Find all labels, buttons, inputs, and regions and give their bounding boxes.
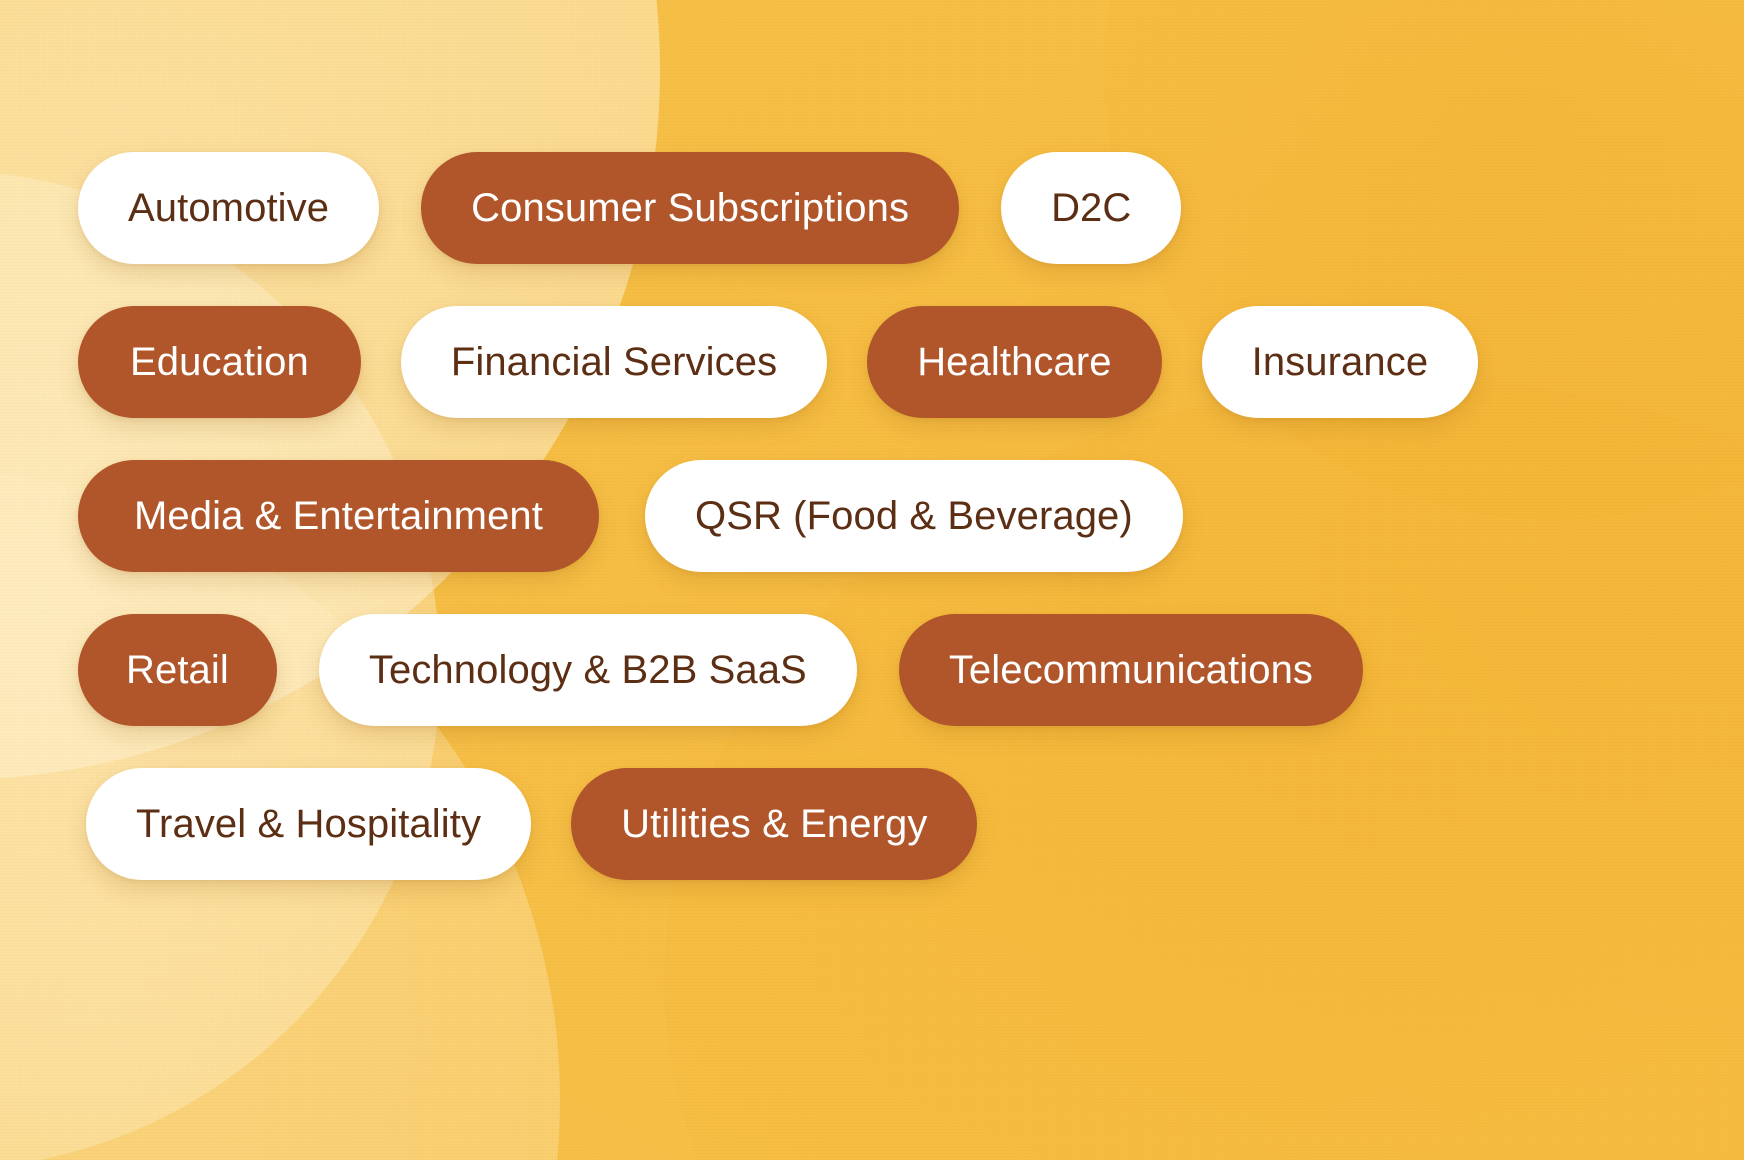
tag-label: Telecommunications — [949, 650, 1313, 690]
tag-technology-and-b2b-saas[interactable]: Technology & B2B SaaS — [319, 614, 857, 726]
industry-tag-cloud: Automotive Consumer Subscriptions D2C Ed… — [0, 0, 1744, 880]
tag-label: Utilities & Energy — [621, 804, 927, 844]
tag-travel-and-hospitality[interactable]: Travel & Hospitality — [86, 768, 531, 880]
tag-education[interactable]: Education — [78, 306, 361, 418]
tag-label: Financial Services — [451, 342, 777, 382]
tag-label: Media & Entertainment — [134, 496, 543, 536]
tag-row: Retail Technology & B2B SaaS Telecommuni… — [78, 614, 1744, 726]
tag-qsr-food-and-beverage[interactable]: QSR (Food & Beverage) — [645, 460, 1183, 572]
tag-label: D2C — [1051, 188, 1131, 228]
tag-retail[interactable]: Retail — [78, 614, 277, 726]
tag-label: Retail — [126, 650, 229, 690]
tag-row: Automotive Consumer Subscriptions D2C — [78, 152, 1744, 264]
tag-label: Insurance — [1252, 342, 1429, 382]
tag-row: Media & Entertainment QSR (Food & Bevera… — [78, 460, 1744, 572]
tag-row: Education Financial Services Healthcare … — [78, 306, 1744, 418]
tag-telecommunications[interactable]: Telecommunications — [899, 614, 1363, 726]
tag-row: Travel & Hospitality Utilities & Energy — [78, 768, 1744, 880]
tag-label: Consumer Subscriptions — [471, 188, 909, 228]
tag-insurance[interactable]: Insurance — [1202, 306, 1479, 418]
tag-d2c[interactable]: D2C — [1001, 152, 1181, 264]
tag-label: Travel & Hospitality — [136, 804, 481, 844]
tag-label: Automotive — [128, 188, 329, 228]
tag-financial-services[interactable]: Financial Services — [401, 306, 827, 418]
tag-consumer-subscriptions[interactable]: Consumer Subscriptions — [421, 152, 959, 264]
tag-automotive[interactable]: Automotive — [78, 152, 379, 264]
tag-label: Healthcare — [917, 342, 1111, 382]
tag-label: QSR (Food & Beverage) — [695, 496, 1133, 536]
tag-healthcare[interactable]: Healthcare — [867, 306, 1161, 418]
tag-media-and-entertainment[interactable]: Media & Entertainment — [78, 460, 599, 572]
tag-label: Education — [130, 342, 309, 382]
tag-utilities-and-energy[interactable]: Utilities & Energy — [571, 768, 977, 880]
tag-label: Technology & B2B SaaS — [369, 650, 807, 690]
